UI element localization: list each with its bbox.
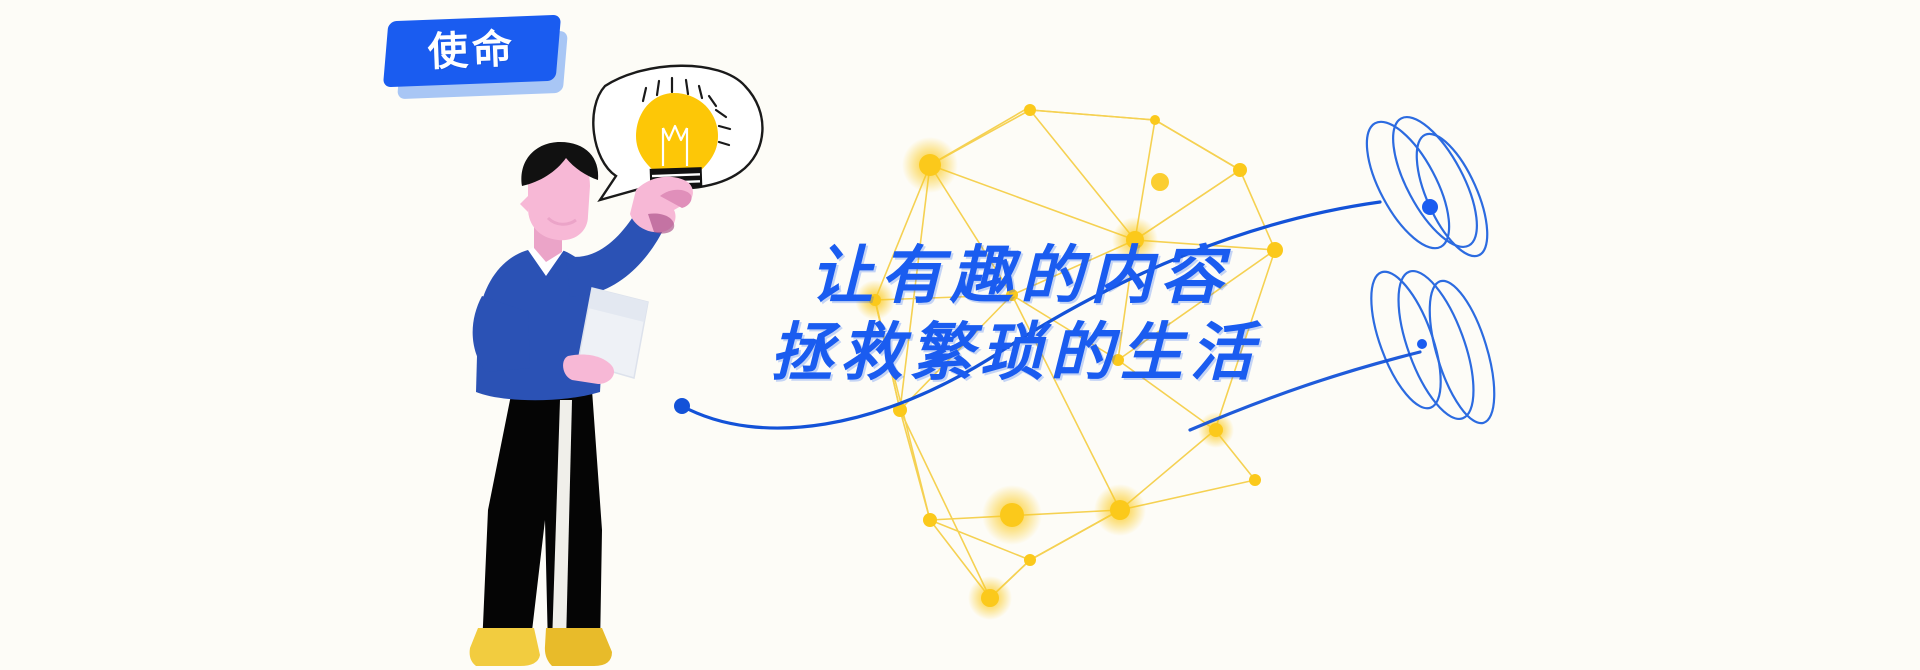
polygon-network bbox=[855, 104, 1283, 620]
badge-label: 使命 bbox=[427, 29, 517, 72]
banner-canvas: 使命 让有趣的内容 拯救繁琐的生活 bbox=[0, 0, 1920, 670]
illustration-artwork bbox=[0, 0, 1920, 670]
character-pants bbox=[482, 390, 602, 648]
character-shoes bbox=[470, 628, 612, 666]
badge-surface: 使命 bbox=[383, 15, 561, 88]
blue-orbit-rings-lower bbox=[1357, 262, 1508, 430]
mission-badge[interactable]: 使命 bbox=[386, 12, 576, 102]
man-pointing-illustration bbox=[470, 142, 693, 666]
blue-orbit-rings bbox=[1350, 105, 1501, 265]
